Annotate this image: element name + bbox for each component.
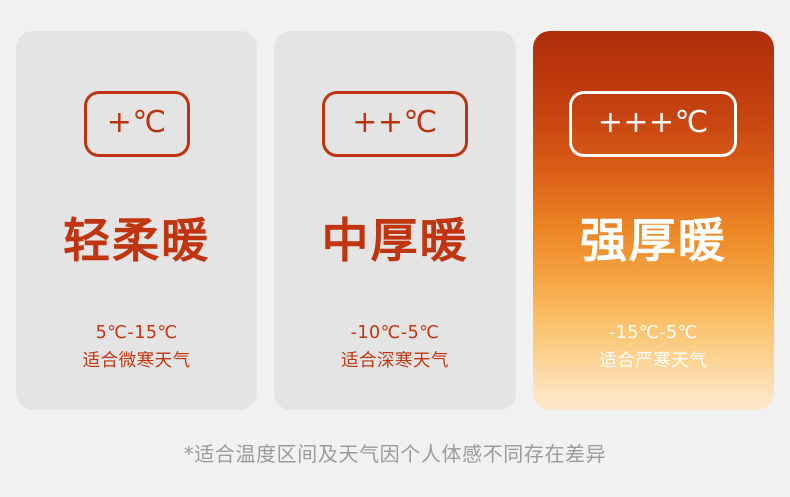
temp-range: -15℃-5℃ bbox=[533, 319, 774, 347]
disclaimer-footnote: *适合温度区间及天气因个人体感不同存在差异 bbox=[0, 438, 790, 467]
card-title: 中厚暖 bbox=[321, 216, 468, 269]
temperature-plus-two-icon: ++℃ bbox=[322, 91, 468, 157]
warmth-card-row: +℃ 轻柔暖 5℃-15℃ 适合微寒天气 ++℃ 中厚暖 -10℃-5℃ 适合深… bbox=[16, 31, 774, 410]
card-subtext: -10℃-5℃ 适合深寒天气 bbox=[274, 319, 515, 376]
warmth-level-infographic: +℃ 轻柔暖 5℃-15℃ 适合微寒天气 ++℃ 中厚暖 -10℃-5℃ 适合深… bbox=[0, 0, 790, 497]
temp-range: 5℃-15℃ bbox=[16, 319, 257, 347]
card-title: 强厚暖 bbox=[580, 216, 727, 269]
card-subtext: 5℃-15℃ 适合微寒天气 bbox=[16, 319, 257, 376]
weather-label: 适合严寒天气 bbox=[533, 347, 774, 375]
badge-label: +℃ bbox=[107, 108, 167, 138]
weather-label: 适合深寒天气 bbox=[274, 347, 515, 375]
badge-label: +++℃ bbox=[598, 108, 709, 138]
card-title: 轻柔暖 bbox=[63, 216, 210, 269]
warmth-card-strong-warm[interactable]: +++℃ 强厚暖 -15℃-5℃ 适合严寒天气 bbox=[533, 31, 774, 410]
temperature-plus-one-icon: +℃ bbox=[84, 91, 190, 157]
warmth-card-medium-warm[interactable]: ++℃ 中厚暖 -10℃-5℃ 适合深寒天气 bbox=[274, 31, 515, 410]
temperature-plus-three-icon: +++℃ bbox=[569, 91, 737, 157]
warmth-card-light-warm[interactable]: +℃ 轻柔暖 5℃-15℃ 适合微寒天气 bbox=[16, 31, 257, 410]
card-subtext: -15℃-5℃ 适合严寒天气 bbox=[533, 319, 774, 376]
weather-label: 适合微寒天气 bbox=[16, 347, 257, 375]
badge-label: ++℃ bbox=[352, 108, 437, 138]
temp-range: -10℃-5℃ bbox=[274, 319, 515, 347]
